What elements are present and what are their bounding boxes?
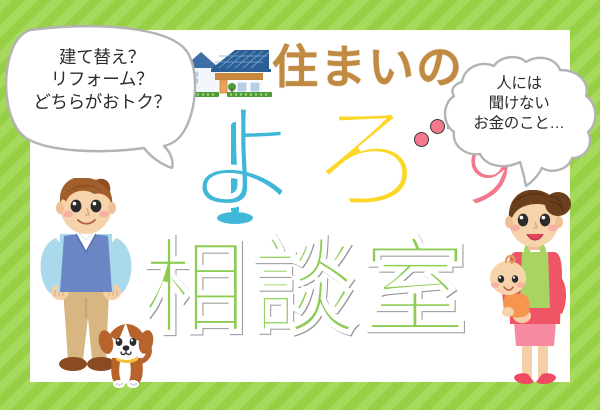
banner-stage: 住まいの よろす 相談室 建て替え？ リフォーム？ どちらがおトク？ 人には 聞… (0, 0, 600, 410)
question-bubble-left: 建て替え？ リフォーム？ どちらがおトク？ (2, 24, 202, 172)
title-char-ro: ろ (309, 100, 433, 218)
bubble-right-shape (438, 56, 600, 188)
woman-with-baby-character (478, 190, 588, 390)
title-char-yo: よ (185, 100, 309, 218)
title-subtitle: 相談室 (143, 236, 473, 340)
question-bubble-right: 人には 聞けない お金のこと… (438, 56, 600, 188)
bubble-left-shape (2, 24, 202, 172)
title-prefix: 住まいの (272, 44, 464, 90)
dog-character (96, 318, 156, 390)
